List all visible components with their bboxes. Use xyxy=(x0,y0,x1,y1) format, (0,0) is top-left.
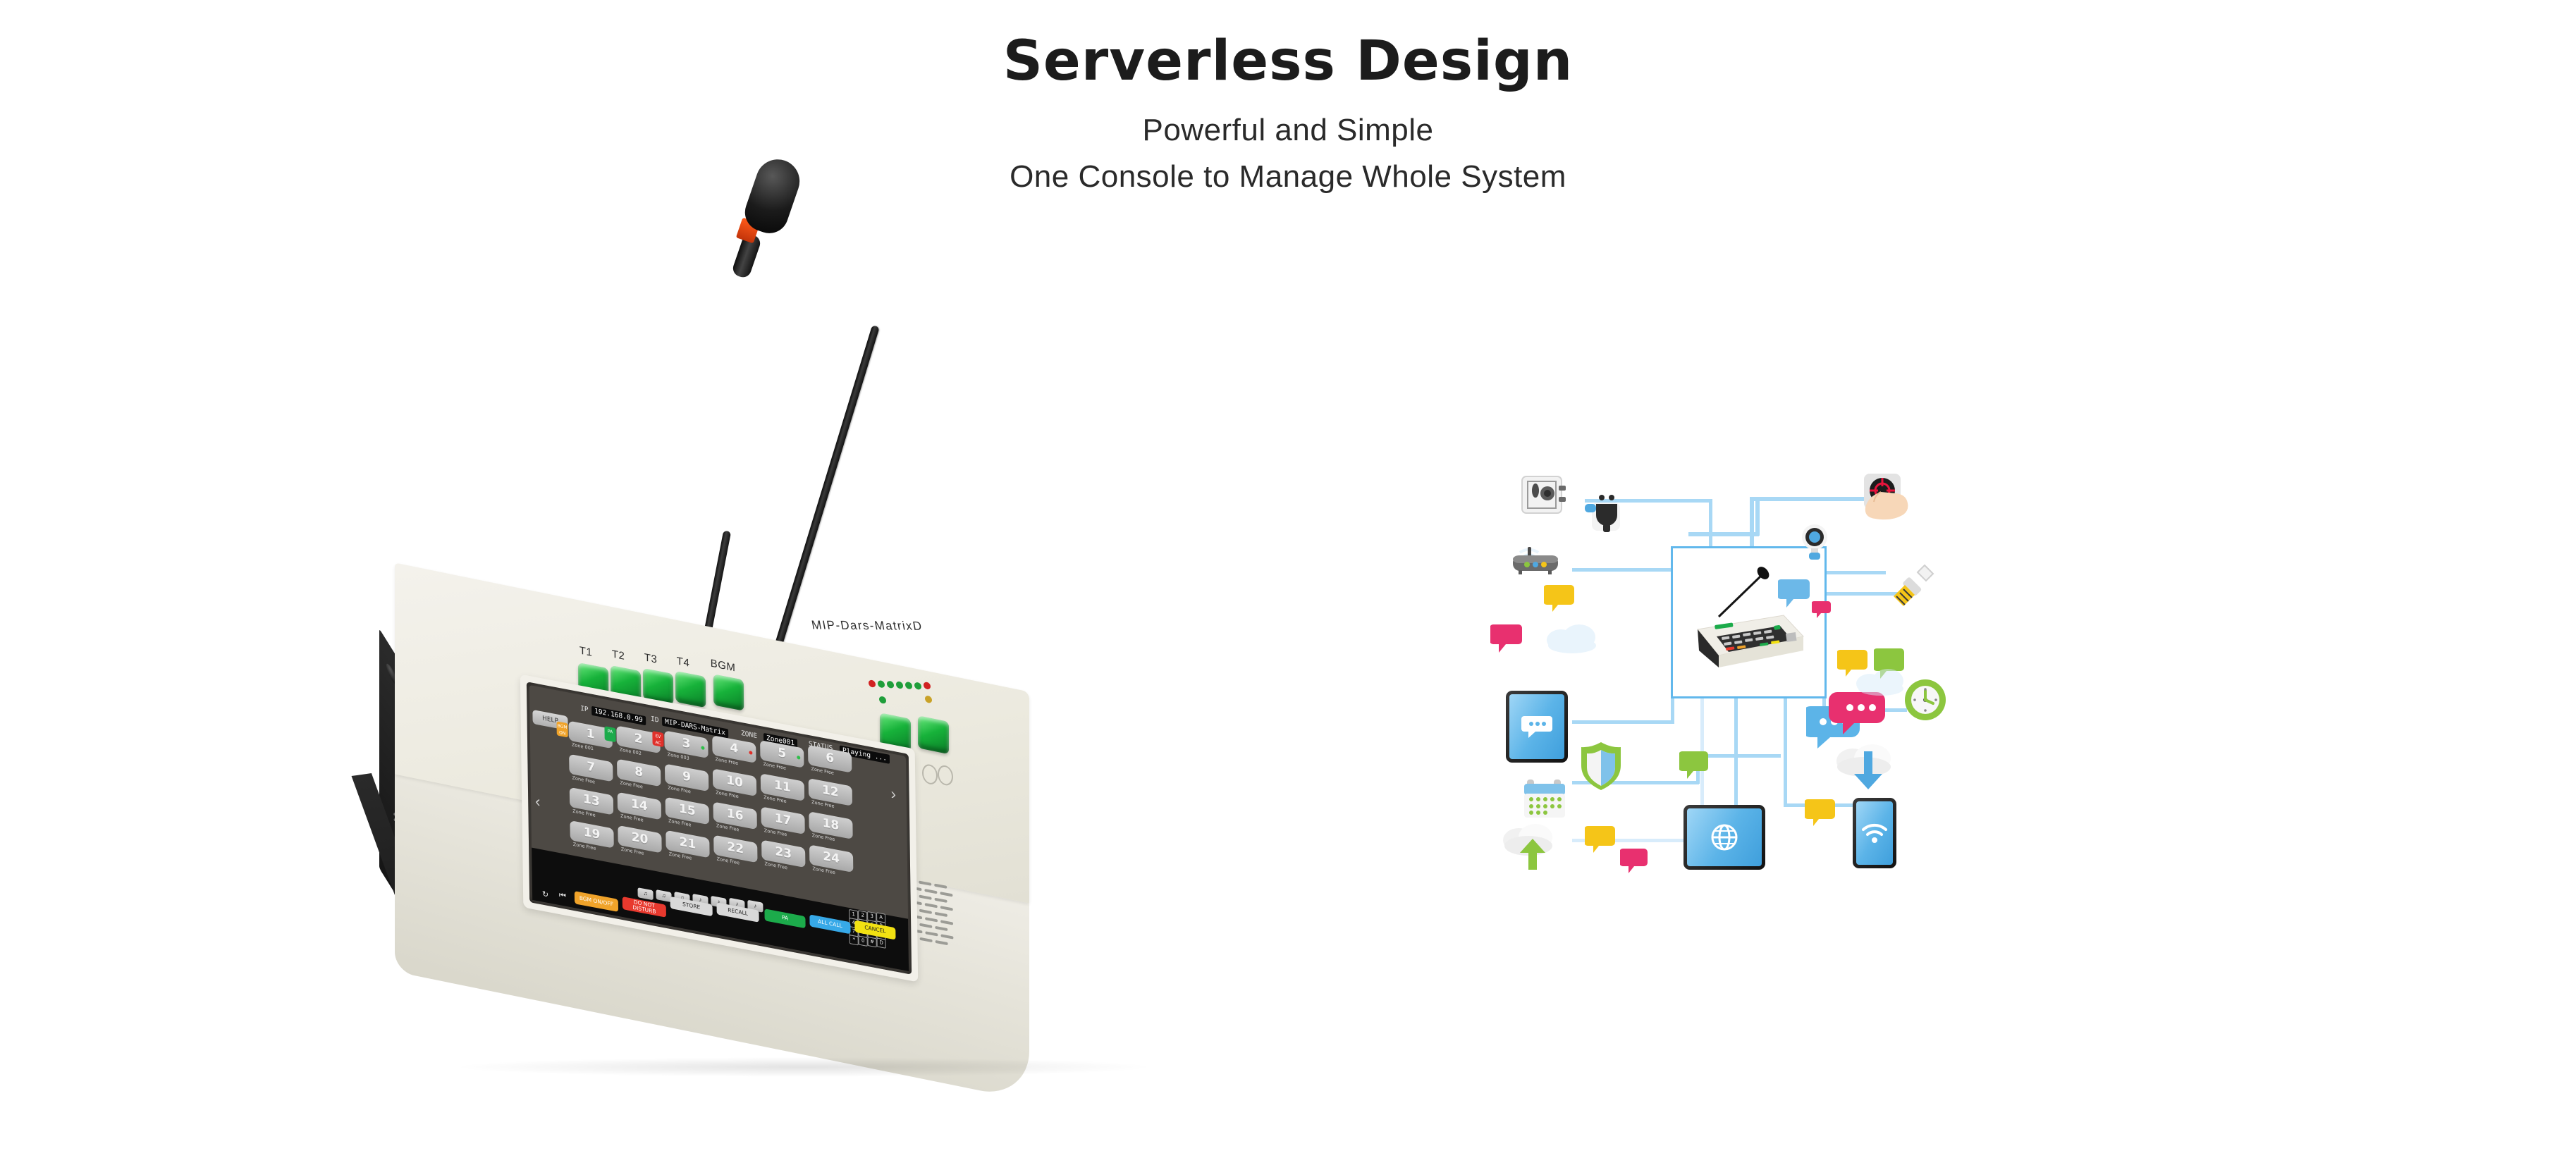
router-icon xyxy=(1507,533,1571,580)
zone-status-dot-3 xyxy=(701,746,704,750)
ip-label: IP xyxy=(580,705,589,714)
link-tablet-globe xyxy=(1734,694,1738,807)
console-product-photo: MIP-Dars-MatrixD T1 T2 T3 T4 BGM xyxy=(395,233,1255,1121)
page-title: Serverless Design xyxy=(0,34,2576,89)
smartphone-wifi-screen xyxy=(1856,801,1893,865)
model-label: MIP-Dars-MatrixD xyxy=(811,618,924,634)
speech-bubble-green-2 xyxy=(1679,749,1709,783)
speech-bubble-pink-1 xyxy=(1490,622,1523,658)
grille-slot xyxy=(940,934,953,939)
link-safe-down xyxy=(1709,499,1712,548)
grille-slot xyxy=(935,926,947,931)
tablet-globe-icon xyxy=(1683,805,1765,870)
top-key-bgm[interactable] xyxy=(713,674,744,710)
product-photo-shadow xyxy=(451,1057,1156,1077)
grille-slot xyxy=(919,909,932,914)
music-slot-2[interactable]: ♫ xyxy=(656,889,671,902)
subtitle-line-2: One Console to Manage Whole System xyxy=(0,156,2576,197)
grille-slot xyxy=(919,895,932,900)
webcam-icon xyxy=(1796,522,1833,567)
zone-label: ZONE xyxy=(741,729,757,740)
tablet-chat-icon xyxy=(1506,691,1568,763)
subtitle-line-1: Powerful and Simple xyxy=(0,110,2576,151)
zone-status-dot-5 xyxy=(797,756,800,760)
grille-slot xyxy=(940,920,953,925)
keypad-key-#[interactable]: # xyxy=(868,937,877,947)
tablet-globe-screen xyxy=(1687,808,1762,866)
speech-bubble-yellow-3 xyxy=(1585,823,1616,858)
top-key-label-t4: T4 xyxy=(677,655,690,670)
keypad-key-D[interactable]: D xyxy=(877,937,886,948)
link-right-mid xyxy=(1822,571,1886,574)
grille-slot xyxy=(925,903,938,908)
page-prev-arrow[interactable]: ‹ xyxy=(535,792,541,811)
all-call-button[interactable]: ALL CALL xyxy=(809,914,850,934)
pa-button[interactable]: PA xyxy=(764,908,805,928)
keypad-key-*[interactable]: * xyxy=(850,935,859,945)
link-tablet-chat xyxy=(1572,720,1674,724)
link-plug-up xyxy=(1755,500,1760,536)
page-next-arrow[interactable]: › xyxy=(890,784,896,803)
repeat-icon[interactable]: ↻ xyxy=(542,889,548,899)
cloud-upload-icon xyxy=(1500,819,1561,876)
iot-connectivity-diagram xyxy=(1502,458,1981,916)
zone-mode-tag-1: BGM ON xyxy=(557,721,568,737)
zone-mode-tag-2: PA xyxy=(604,726,615,742)
top-key-label-t1: T1 xyxy=(579,644,593,659)
tablet-chat-screen xyxy=(1509,694,1564,759)
smartphone-wifi-icon xyxy=(1853,798,1896,868)
power-plug-icon xyxy=(1581,490,1631,537)
link-tool xyxy=(1822,592,1900,596)
right-key-b[interactable] xyxy=(918,715,949,754)
zone-mode-tag-3: EV AC xyxy=(652,731,663,747)
music-slot-1[interactable]: ♫ xyxy=(637,887,653,900)
top-key-label-t2: T2 xyxy=(612,648,625,663)
grille-slot xyxy=(925,931,938,936)
link-right-down xyxy=(1784,694,1787,807)
grille-slot xyxy=(925,917,938,922)
link-top-vert xyxy=(1750,497,1754,553)
shield-icon xyxy=(1578,740,1624,796)
link-plug xyxy=(1688,532,1759,536)
grille-slot xyxy=(940,892,952,897)
ip-value: 192.168.0.99 xyxy=(591,706,646,726)
grille-slot xyxy=(936,940,948,945)
grille-slot xyxy=(940,906,953,911)
safe-icon xyxy=(1519,474,1569,521)
grille-slot xyxy=(935,898,947,903)
previous-icon[interactable]: ⏮ xyxy=(559,891,566,901)
cloud-decor-1 xyxy=(1544,619,1603,658)
speech-bubble-yellow-1 xyxy=(1544,582,1575,617)
link-green-bubble xyxy=(1696,754,1781,758)
header: Serverless Design Powerful and Simple On… xyxy=(0,0,2576,197)
grille-slot xyxy=(924,889,937,894)
grille-slot xyxy=(919,923,932,928)
calendar-icon xyxy=(1523,777,1572,825)
speech-bubble-pink-2 xyxy=(1812,599,1832,622)
top-key-label-t3: T3 xyxy=(644,651,658,666)
keypad-key-0[interactable]: 0 xyxy=(859,935,868,946)
speech-bubble-pink-3 xyxy=(1620,846,1648,877)
id-label: ID xyxy=(651,715,659,725)
zone-status-dot-4 xyxy=(749,751,752,755)
top-key-t4[interactable] xyxy=(675,671,706,708)
cloud-decor-2 xyxy=(1854,664,1910,700)
speech-bubble-yellow-4 xyxy=(1805,796,1836,831)
screwdriver-tool-icon xyxy=(1891,562,1936,614)
bgm-onoff-button[interactable]: BGM ON/OFF xyxy=(575,891,618,912)
grille-slot xyxy=(935,912,947,917)
grille-slot xyxy=(920,937,933,942)
fingerprint-touch-icon xyxy=(1860,471,1915,535)
chat-bubbles-icon xyxy=(1806,691,1885,756)
speech-bubble-blue-1 xyxy=(1778,577,1810,612)
